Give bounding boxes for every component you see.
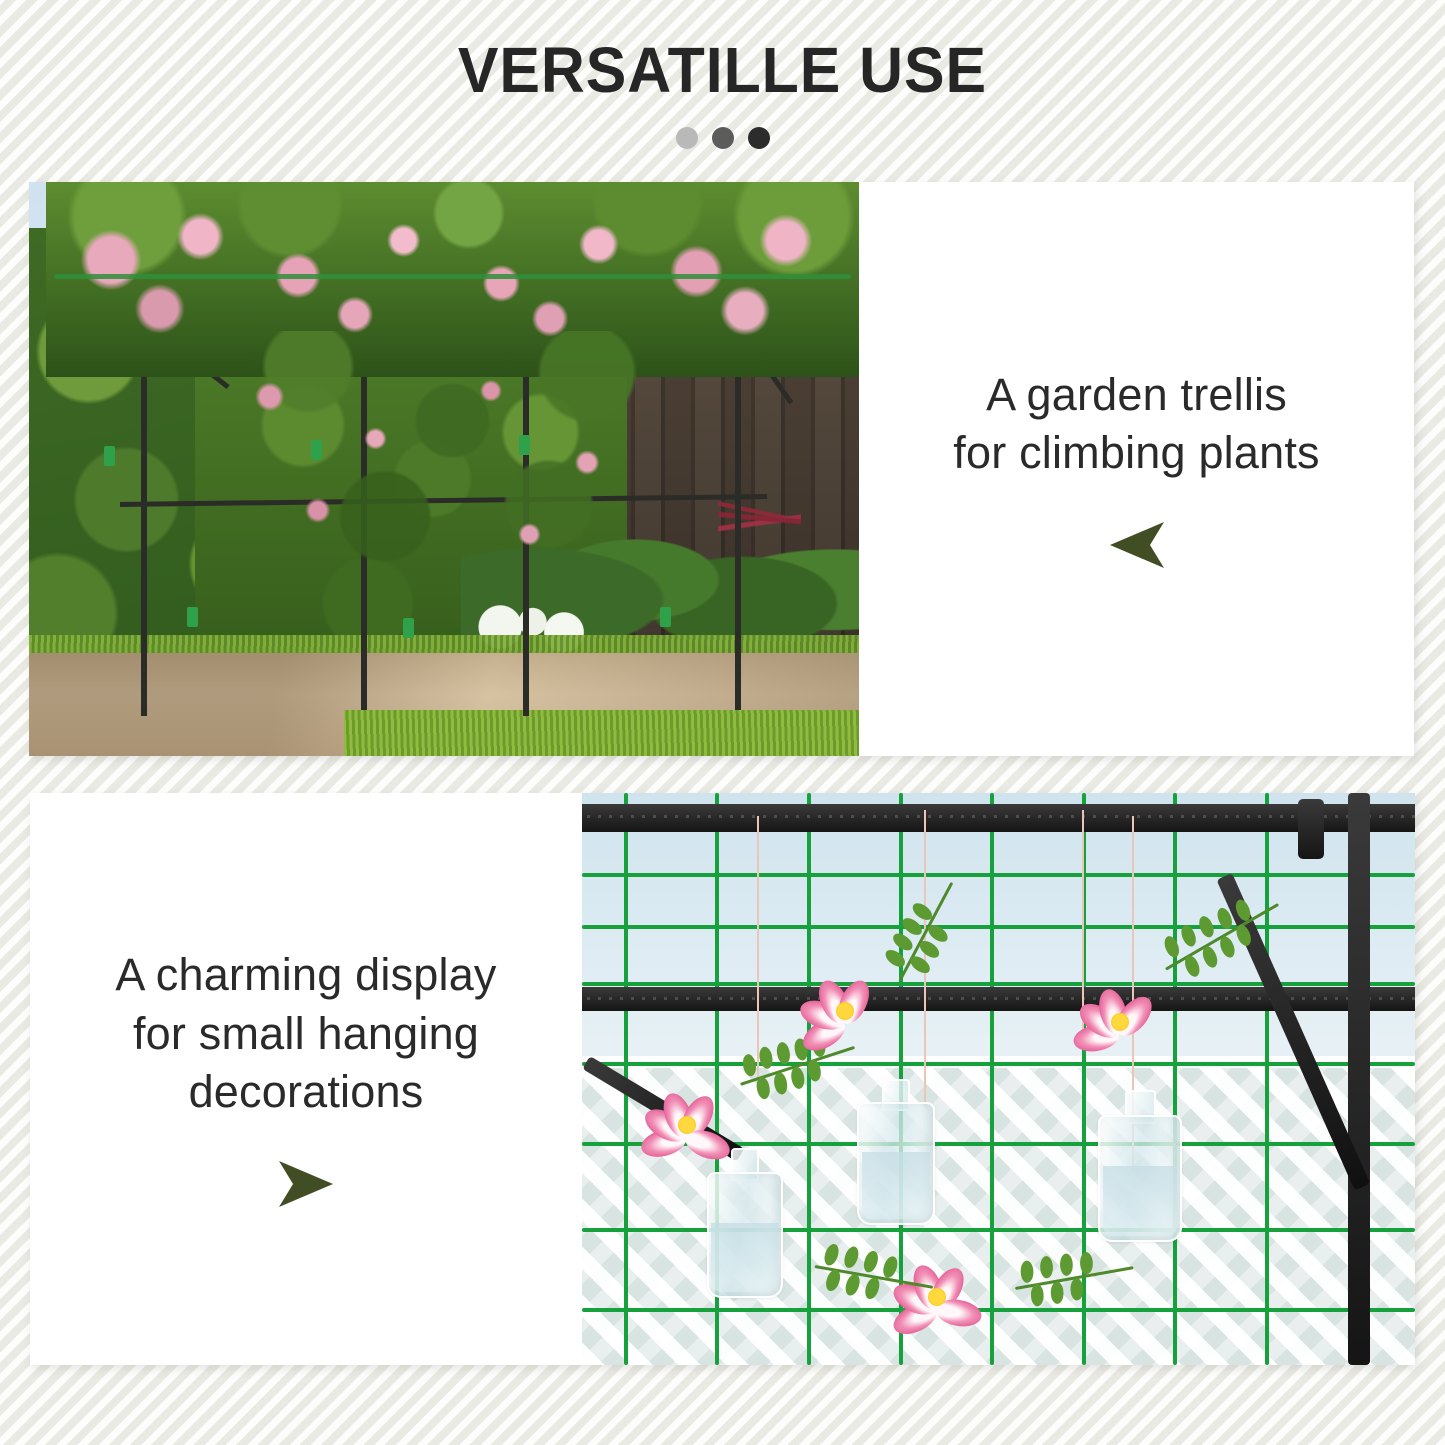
net-vertical bbox=[1265, 793, 1269, 1365]
panel-top: A garden trellis for climbing plants bbox=[29, 182, 1414, 756]
hanging-string bbox=[757, 816, 759, 1091]
page-title: VERSATILLE USE bbox=[458, 38, 987, 102]
net-horizontal bbox=[582, 873, 1415, 877]
caption-line: decorations bbox=[115, 1063, 496, 1122]
net-horizontal bbox=[582, 1062, 1415, 1066]
bar-perforations bbox=[582, 997, 1415, 1000]
pink-alstroemeria-flower bbox=[1065, 987, 1185, 1067]
hanging-decorations-net-photo bbox=[582, 793, 1415, 1365]
canopy-net-edge bbox=[54, 274, 851, 279]
net-horizontal bbox=[582, 982, 1415, 986]
caption-line: for climbing plants bbox=[953, 424, 1319, 483]
panel-top-text: A garden trellis for climbing plants bbox=[859, 182, 1414, 756]
net-horizontal bbox=[582, 925, 1415, 929]
glass-bottle-vase bbox=[857, 1079, 935, 1225]
panel-bottom: A charming display for small hanging dec… bbox=[30, 793, 1415, 1365]
caption-line: for small hanging bbox=[115, 1005, 496, 1064]
dot-medium bbox=[712, 127, 734, 149]
garden-trellis-pergola-photo bbox=[29, 182, 859, 756]
dot-dark bbox=[748, 127, 770, 149]
arrow-right-glyph bbox=[275, 1160, 337, 1208]
climbing-vine-curtain bbox=[212, 331, 693, 629]
pink-alstroemeria-flower bbox=[790, 976, 910, 1056]
caption-line: A charming display bbox=[115, 946, 496, 1005]
pink-alstroemeria-flower bbox=[632, 1090, 752, 1170]
net-vertical bbox=[1173, 793, 1177, 1365]
plant-clip-1 bbox=[104, 446, 115, 466]
panel-top-caption: A garden trellis for climbing plants bbox=[953, 366, 1319, 483]
frame-post-right bbox=[1348, 793, 1370, 1365]
arrow-left-glyph bbox=[1106, 521, 1168, 569]
bar-perforations bbox=[582, 815, 1415, 818]
arrow-left-icon bbox=[1106, 517, 1168, 573]
dot-separator bbox=[676, 127, 770, 149]
bottle-water bbox=[711, 1223, 778, 1292]
caption-line: A garden trellis bbox=[953, 366, 1319, 425]
panel-bottom-caption: A charming display for small hanging dec… bbox=[115, 946, 496, 1122]
dot-light bbox=[676, 127, 698, 149]
panel-bottom-text: A charming display for small hanging dec… bbox=[30, 793, 582, 1365]
arrow-right-icon bbox=[275, 1156, 337, 1212]
frame-top-bar bbox=[582, 804, 1415, 832]
infographic-page: VERSATILLE USE bbox=[0, 0, 1445, 1445]
frame-connector-top-right bbox=[1298, 799, 1324, 859]
bottle-water bbox=[862, 1152, 931, 1219]
header: VERSATILLE USE bbox=[0, 0, 1445, 175]
foreground-grass bbox=[344, 710, 859, 756]
plant-clip-4 bbox=[187, 607, 198, 627]
glass-bottle-vase bbox=[1098, 1090, 1182, 1242]
bottle-water bbox=[1103, 1166, 1177, 1236]
